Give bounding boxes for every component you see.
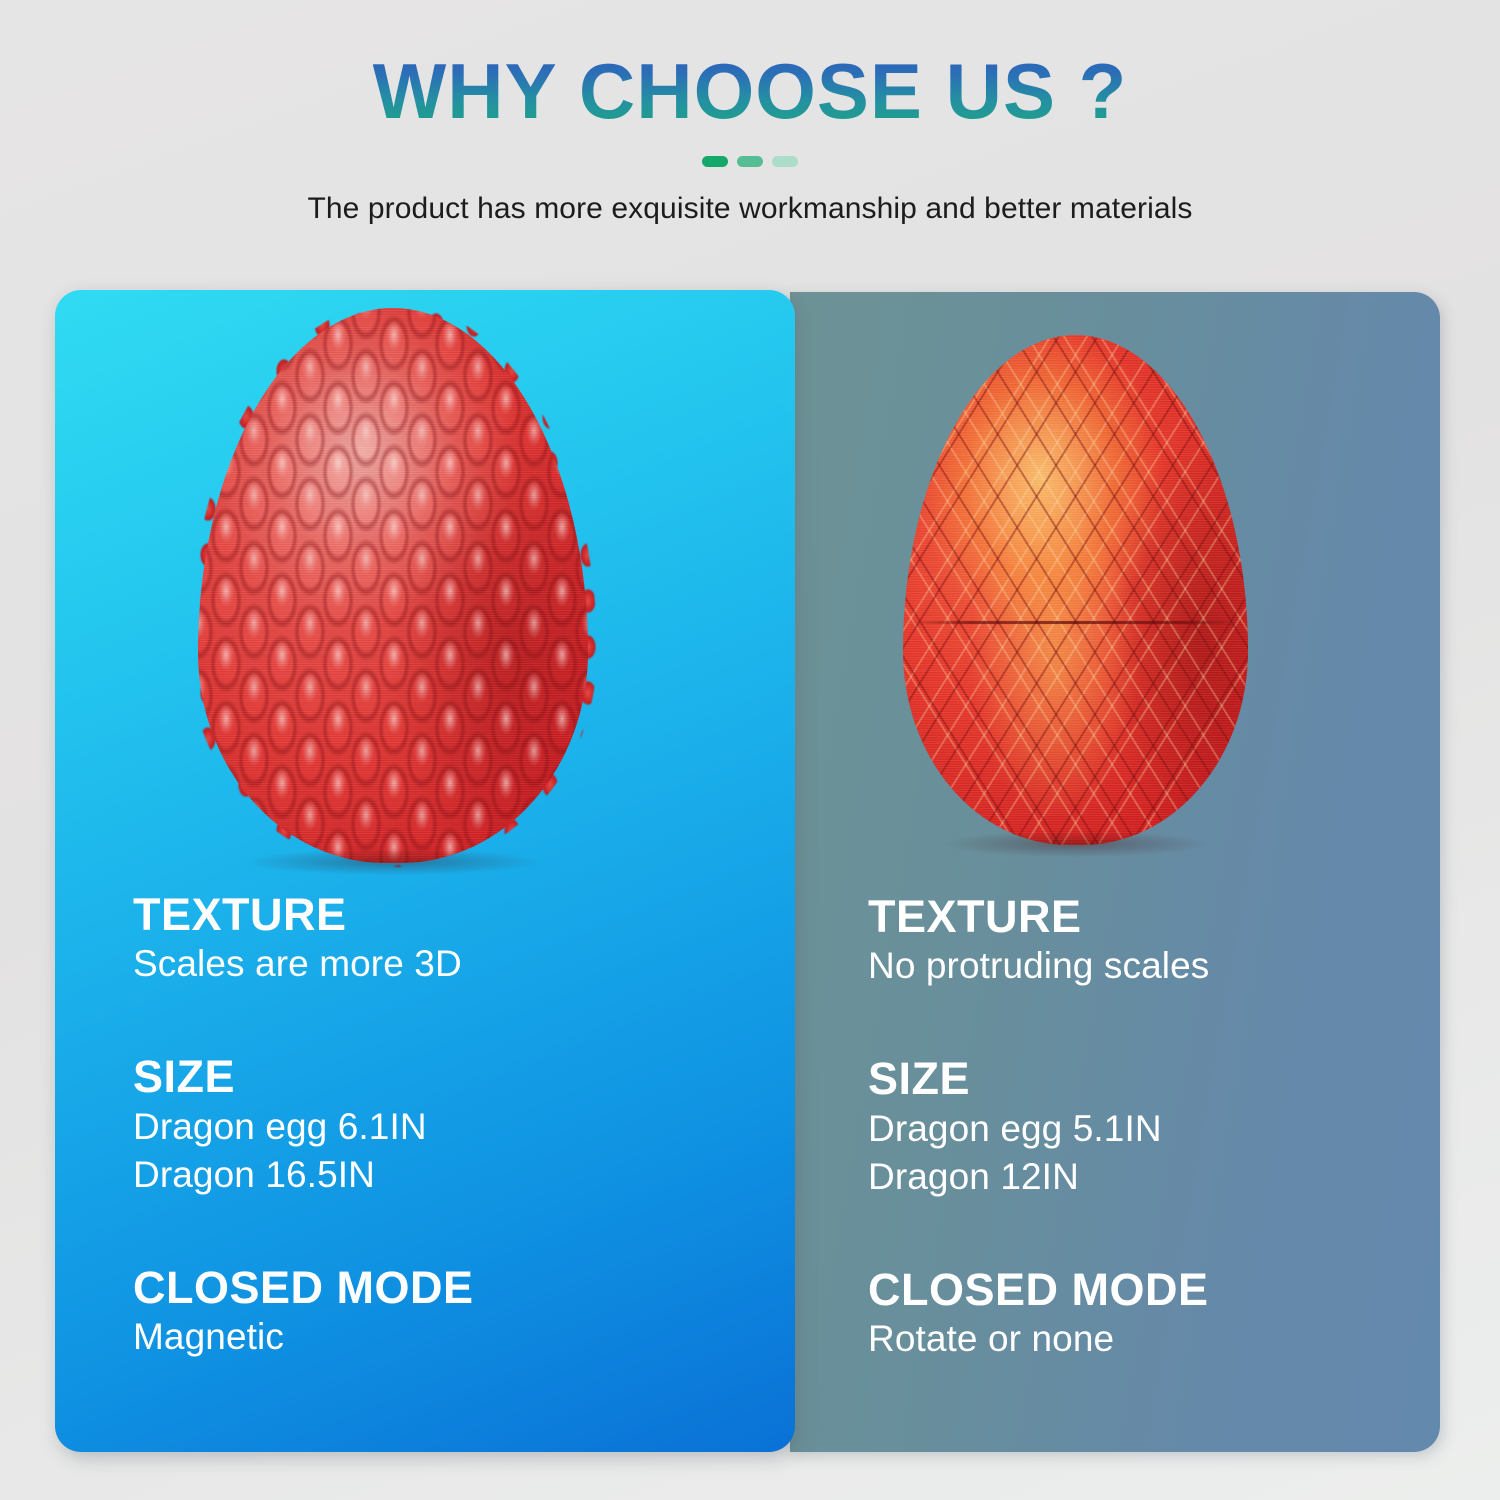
spec-title: TEXTURE bbox=[868, 892, 1408, 942]
spec-block-texture: TEXTURE No protruding scales bbox=[868, 892, 1408, 990]
egg-print-lines bbox=[903, 335, 1248, 845]
spec-block-closed-mode: CLOSED MODE Rotate or none bbox=[868, 1265, 1408, 1363]
spec-title: CLOSED MODE bbox=[133, 1263, 693, 1313]
spec-line: Magnetic bbox=[133, 1313, 693, 1361]
spec-block-texture: TEXTURE Scales are more 3D bbox=[133, 890, 693, 988]
divider-dash-3 bbox=[772, 156, 798, 167]
spec-line: No protruding scales bbox=[868, 942, 1408, 990]
spec-title: CLOSED MODE bbox=[868, 1265, 1408, 1315]
egg-body-shape bbox=[903, 335, 1248, 845]
page-subtitle: The product has more exquisite workmansh… bbox=[0, 192, 1500, 226]
spec-line: Dragon 12IN bbox=[868, 1153, 1408, 1201]
our-product-card: TEXTURE Scales are more 3D SIZE Dragon e… bbox=[55, 290, 795, 1452]
competitor-product-card: TEXTURE No protruding scales SIZE Dragon… bbox=[790, 292, 1440, 1452]
competitor-dragon-egg-image bbox=[903, 335, 1248, 845]
spec-block-size: SIZE Dragon egg 5.1IN Dragon 12IN bbox=[868, 1054, 1408, 1201]
spec-line: Scales are more 3D bbox=[133, 940, 693, 988]
spec-line: Dragon egg 6.1IN bbox=[133, 1103, 693, 1151]
page-header: WHY CHOOSE US ? The product has more exq… bbox=[0, 0, 1500, 226]
egg-body-shape bbox=[198, 308, 588, 863]
divider-dashes bbox=[0, 156, 1500, 167]
spec-line: Rotate or none bbox=[868, 1315, 1408, 1363]
spec-block-closed-mode: CLOSED MODE Magnetic bbox=[133, 1263, 693, 1361]
egg-seam-line bbox=[910, 621, 1241, 624]
spec-title: SIZE bbox=[868, 1054, 1408, 1104]
divider-dash-2 bbox=[737, 156, 763, 167]
competitor-spec-list: TEXTURE No protruding scales SIZE Dragon… bbox=[868, 892, 1408, 1364]
spec-title: SIZE bbox=[133, 1052, 693, 1102]
egg-print-lines bbox=[198, 308, 588, 863]
egg-contact-shadow bbox=[944, 831, 1206, 857]
our-spec-list: TEXTURE Scales are more 3D SIZE Dragon e… bbox=[133, 890, 693, 1362]
spec-title: TEXTURE bbox=[133, 890, 693, 940]
spec-block-size: SIZE Dragon egg 6.1IN Dragon 16.5IN bbox=[133, 1052, 693, 1199]
spec-line: Dragon 16.5IN bbox=[133, 1151, 693, 1199]
competitor-photo-stage bbox=[790, 292, 1440, 892]
spec-line: Dragon egg 5.1IN bbox=[868, 1105, 1408, 1153]
our-dragon-egg-image bbox=[198, 308, 588, 863]
our-photo-stage bbox=[55, 290, 795, 890]
egg-contact-shadow bbox=[245, 849, 541, 875]
page-title: WHY CHOOSE US ? bbox=[373, 52, 1128, 130]
divider-dash-1 bbox=[702, 156, 728, 167]
